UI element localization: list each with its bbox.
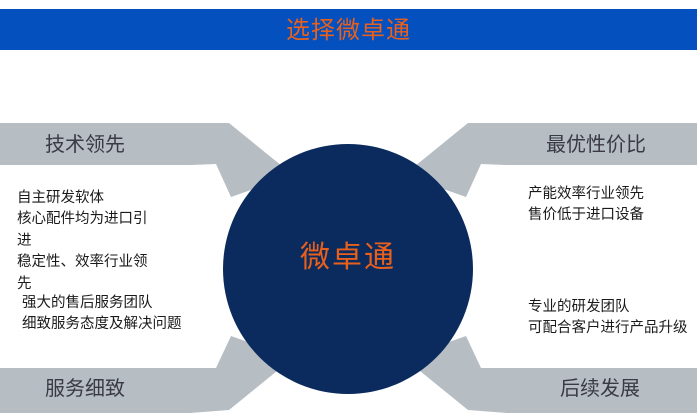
arrow-top-left [0, 123, 293, 197]
text-line: 售价低于进口设备 [528, 205, 697, 226]
text-line: 可配合客户进行产品升级 [528, 318, 697, 339]
text-block-right-top: 产能效率行业领先 售价低于进口设备 [528, 184, 697, 227]
text-line: 细致服务态度及解决问题 [22, 314, 222, 335]
arrow-bottom-left [0, 336, 293, 413]
text-line: 进 [17, 231, 167, 252]
text-line: 产能效率行业领先 [528, 184, 697, 205]
arrow-label-top-right: 最优性价比 [546, 134, 646, 154]
arrow-label-top-left: 技术领先 [45, 134, 125, 154]
text-line: 核心配件均为进口引 [17, 209, 167, 230]
arrow-bottom-right [404, 336, 697, 413]
text-block-left-top: 自主研发软体 核心配件均为进口引 进 稳定性、效率行业领 先 [17, 188, 167, 295]
center-circle-label: 微卓通 [223, 243, 473, 273]
text-line: 自主研发软体 [17, 188, 167, 209]
text-block-left-bottom: 强大的售后服务团队 细致服务态度及解决问题 [22, 293, 222, 336]
text-block-right-bottom: 专业的研发团队 可配合客户进行产品升级 [528, 297, 697, 340]
text-line: 强大的售后服务团队 [22, 293, 222, 314]
text-line: 稳定性、效率行业领 [17, 252, 167, 273]
infographic-slide: 选择微卓通 技术领先 最优性价比 服务细致 后续发展 微卓通 自主研发软体 核心… [0, 0, 697, 413]
arrow-label-bottom-left: 服务细致 [45, 378, 125, 398]
arrow-label-bottom-right: 后续发展 [560, 378, 640, 398]
text-line: 专业的研发团队 [528, 297, 697, 318]
